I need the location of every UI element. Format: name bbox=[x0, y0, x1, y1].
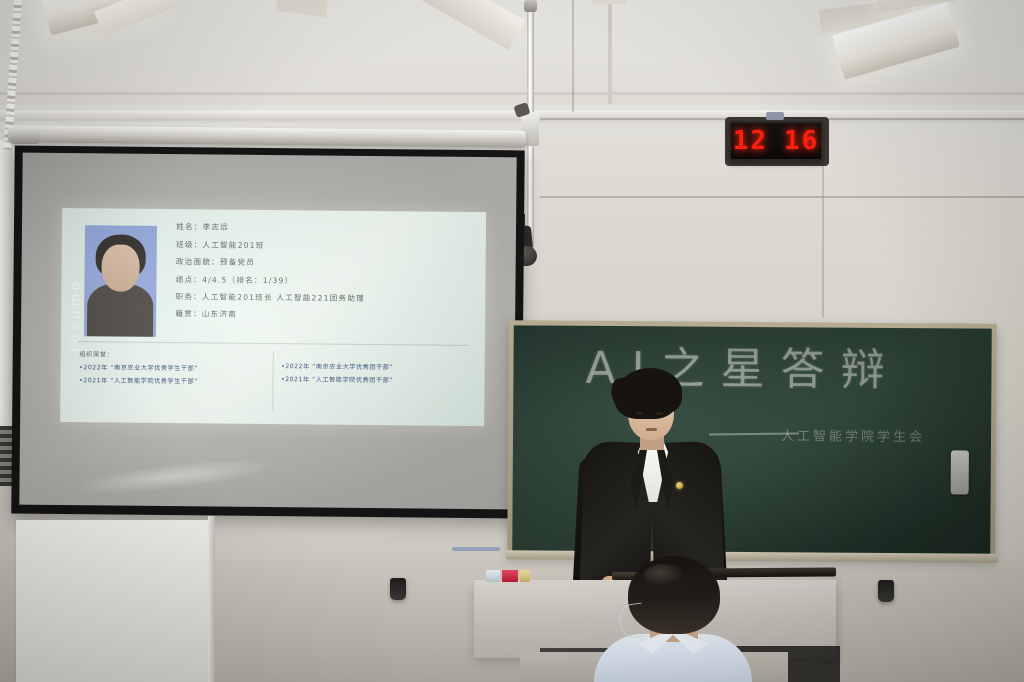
seated-hair-highlight bbox=[644, 564, 684, 586]
pole-cap bbox=[524, 0, 537, 12]
ceiling-seam bbox=[608, 0, 612, 112]
slide-info-line: 绩点：4/4.5（排名：1/39） bbox=[176, 274, 482, 288]
slide-info-line: 姓名：李志远 bbox=[176, 222, 482, 236]
slide-info-block: 姓名：李志远 班级：人工智能201班 政治面貌：预备党员 绩点：4/4.5（排名… bbox=[175, 222, 482, 329]
awards-heading: 组织荣誉： bbox=[79, 349, 270, 360]
blackboard-ledge-marker bbox=[452, 547, 500, 551]
chalk-box-white[interactable] bbox=[486, 570, 500, 582]
wall-speaker-left bbox=[390, 578, 406, 600]
ceiling-vertical-seam bbox=[572, 0, 574, 112]
screen-surface: resume 姓名：李志远 班级：人工智能201班 政治面貌：预备党员 绩点：4… bbox=[19, 153, 516, 510]
award-item: •2022年 “南京农业大学优秀团干部” bbox=[281, 361, 472, 372]
projected-slide: resume 姓名：李志远 班级：人工智能201班 政治面貌：预备党员 绩点：4… bbox=[60, 208, 487, 427]
slide-divider bbox=[77, 341, 468, 346]
side-whiteboard bbox=[16, 520, 212, 682]
ceiling-light-3 bbox=[592, 0, 626, 4]
projection-screen: resume 姓名：李志远 班级：人工智能201班 政治面貌：预备党员 绩点：4… bbox=[11, 146, 525, 519]
clock-hours: 12 bbox=[733, 128, 768, 154]
award-item: •2021年 “人工智能学院优秀学生干部” bbox=[79, 375, 270, 386]
slide-awards-right: •2022年 “南京农业大学优秀团干部” •2021年 “人工智能学院优秀团干部… bbox=[281, 361, 472, 388]
slide-info-line: 职务：人工智能201班长 人工智能221团务助理 bbox=[176, 291, 482, 305]
wall-digital-clock: 12 16 bbox=[729, 121, 823, 161]
award-item: •2022年 “南京农业大学优秀学生干部” bbox=[79, 362, 270, 373]
left-wall-strip bbox=[0, 140, 12, 440]
presenter-eye-left bbox=[636, 412, 643, 415]
slide-id-photo bbox=[84, 225, 157, 337]
chalk-box-red[interactable] bbox=[502, 570, 518, 582]
wall-panel-line-2 bbox=[540, 196, 1024, 198]
slide-awards-left: 组织荣誉： •2022年 “南京农业大学优秀学生干部” •2021年 “人工智能… bbox=[79, 349, 271, 389]
board-eraser[interactable] bbox=[951, 450, 969, 494]
seated-audience-member bbox=[584, 556, 760, 682]
screen-roller-end-cap bbox=[10, 129, 40, 144]
face-mask-strap bbox=[618, 602, 646, 639]
whiteboard-edge bbox=[208, 516, 215, 682]
blackboard-subtitle: 人工智能学院学生会 bbox=[781, 425, 925, 445]
clock-display: 12 16 bbox=[733, 128, 820, 154]
chalk-box-yellow[interactable] bbox=[520, 570, 530, 582]
wall-speaker-right bbox=[878, 580, 894, 602]
slide-vertical-divider bbox=[272, 351, 274, 411]
lapel-pin-icon bbox=[676, 482, 683, 489]
photo-face bbox=[102, 244, 140, 291]
slide-info-line: 政治面貌：预备党员 bbox=[176, 256, 482, 270]
photo-body bbox=[87, 283, 154, 337]
clock-minutes: 16 bbox=[784, 128, 819, 154]
presenter-mouth bbox=[646, 428, 657, 431]
slide-info-line: 籍贯：山东济南 bbox=[175, 308, 481, 322]
slide-info-line: 班级：人工智能201班 bbox=[176, 239, 482, 253]
ceiling-edge bbox=[0, 92, 1024, 95]
award-item: •2021年 “人工智能学院优秀团干部” bbox=[281, 374, 472, 385]
presenter-eye-right bbox=[656, 412, 663, 415]
screen-reflection-scrawl bbox=[68, 452, 277, 500]
classroom-scene: 12 16 resume 姓名：李志远 班级：人工智能201班 政治面貌：预备党… bbox=[0, 0, 1024, 682]
clock-mount-bracket bbox=[766, 112, 784, 120]
